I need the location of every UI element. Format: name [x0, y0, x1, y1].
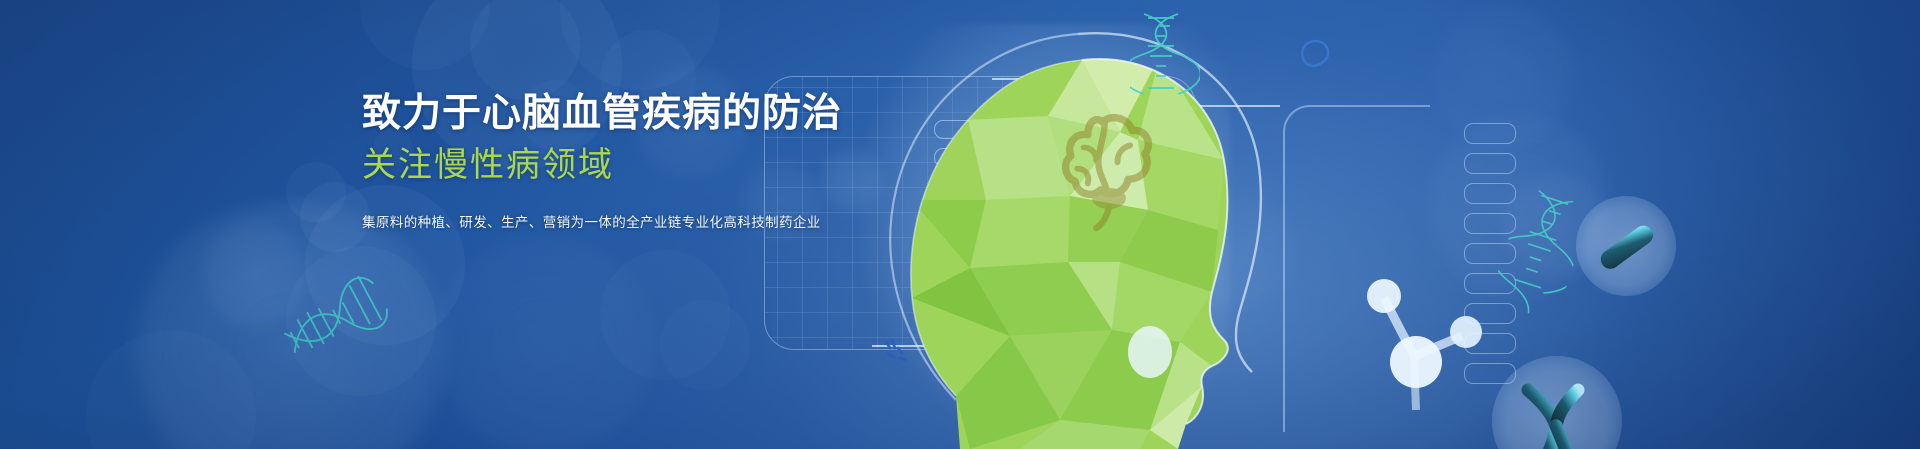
- banner-tagline: 集原料的种植、研发、生产、营销为一体的全产业链专业化高科技制药企业: [362, 211, 922, 231]
- banner-copy: 致力于心脑血管疾病的防治 关注慢性病领域 集原料的种植、研发、生产、营销为一体的…: [362, 92, 922, 231]
- banner-subheadline: 关注慢性病领域: [362, 146, 922, 185]
- hero-banner: 致力于心脑血管疾病的防治 关注慢性病领域 集原料的种植、研发、生产、营销为一体的…: [0, 0, 1920, 449]
- vignette-overlay: [0, 0, 1920, 449]
- banner-headline: 致力于心脑血管疾病的防治: [362, 92, 922, 136]
